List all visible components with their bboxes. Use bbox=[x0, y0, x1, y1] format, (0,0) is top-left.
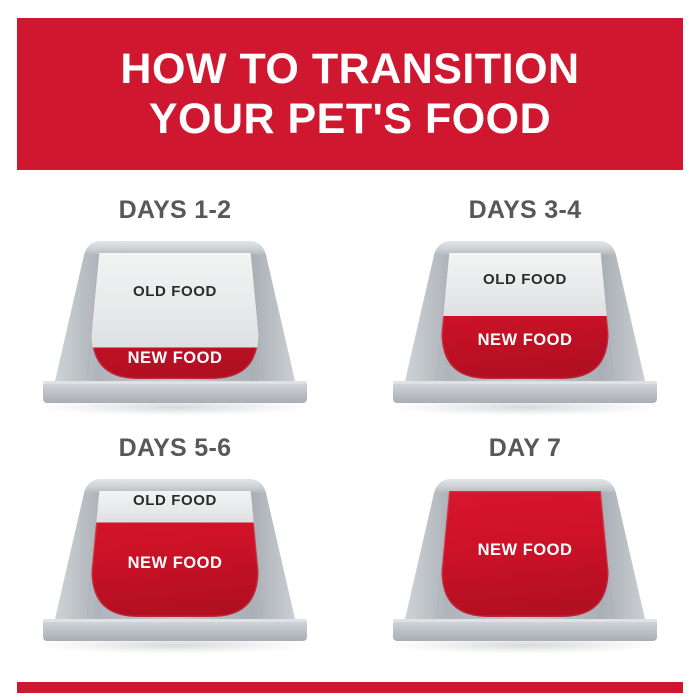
bowl-rim bbox=[84, 241, 266, 255]
stage-title: DAYS 1-2 bbox=[0, 196, 350, 225]
bowl-container: NEW FOOD bbox=[363, 469, 687, 654]
bowl-container: OLD FOODNEW FOOD bbox=[363, 231, 687, 416]
bowl-base-highlight bbox=[393, 619, 657, 622]
bowl-base bbox=[43, 381, 307, 403]
old-food-fill bbox=[90, 253, 260, 348]
bowl-rim bbox=[434, 479, 616, 493]
bowl-base-highlight bbox=[43, 381, 307, 384]
bowl-container: OLD FOODNEW FOOD bbox=[13, 469, 337, 654]
bowl-base-highlight bbox=[393, 381, 657, 384]
stage-panel-2: DAYS 3-4 bbox=[350, 188, 700, 423]
bowl-base bbox=[43, 619, 307, 641]
header-banner: HOW TO TRANSITION YOUR PET'S FOOD bbox=[17, 18, 683, 170]
header-title-line-2: YOUR PET'S FOOD bbox=[149, 94, 551, 144]
stage-panel-4: DAY 7 bbox=[350, 426, 700, 661]
stage-title: DAY 7 bbox=[350, 434, 700, 463]
old-food-fill bbox=[443, 253, 607, 316]
stage-title: DAYS 3-4 bbox=[350, 196, 700, 225]
bowl-base bbox=[393, 381, 657, 403]
bowl-rim bbox=[434, 241, 616, 255]
header-title-line-1: HOW TO TRANSITION bbox=[120, 44, 579, 94]
transition-stage-grid: DAYS 1-2 bbox=[0, 188, 700, 658]
old-food-fill bbox=[96, 491, 254, 523]
food-cavity bbox=[441, 253, 608, 379]
bowl-graphic bbox=[363, 469, 687, 654]
bowl-graphic bbox=[363, 231, 687, 416]
new-food-fill bbox=[441, 491, 608, 617]
stage-panel-1: DAYS 1-2 bbox=[0, 188, 350, 423]
food-cavity bbox=[90, 253, 260, 379]
bowl-container: OLD FOODNEW FOOD bbox=[13, 231, 337, 416]
bowl-graphic bbox=[13, 231, 337, 416]
stage-title: DAYS 5-6 bbox=[0, 434, 350, 463]
bowl-base-highlight bbox=[43, 619, 307, 622]
bottom-accent-rule bbox=[17, 682, 683, 693]
bowl-graphic bbox=[13, 469, 337, 654]
bowl-rim bbox=[84, 479, 266, 493]
food-cavity bbox=[91, 491, 258, 617]
bowl-base bbox=[393, 619, 657, 641]
food-cavity bbox=[441, 491, 608, 617]
stage-panel-3: DAYS 5-6 bbox=[0, 426, 350, 661]
